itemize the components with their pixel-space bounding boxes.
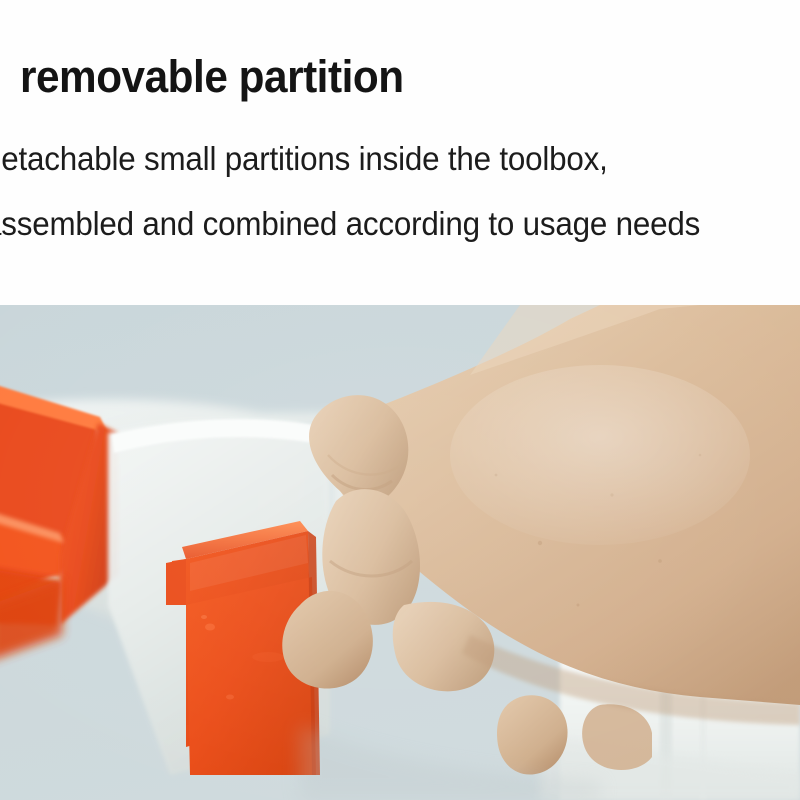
body-line-2: assembled and combined according to usag… bbox=[0, 191, 773, 256]
text-block: removable partition detachable small par… bbox=[0, 0, 800, 305]
photo-illustration bbox=[0, 305, 800, 800]
body-copy: detachable small partitions inside the t… bbox=[0, 126, 800, 256]
product-feature-image: removable partition detachable small par… bbox=[0, 0, 800, 800]
product-photo bbox=[0, 305, 800, 800]
page-title: removable partition bbox=[20, 52, 404, 102]
body-line-1: detachable small partitions inside the t… bbox=[0, 126, 773, 191]
